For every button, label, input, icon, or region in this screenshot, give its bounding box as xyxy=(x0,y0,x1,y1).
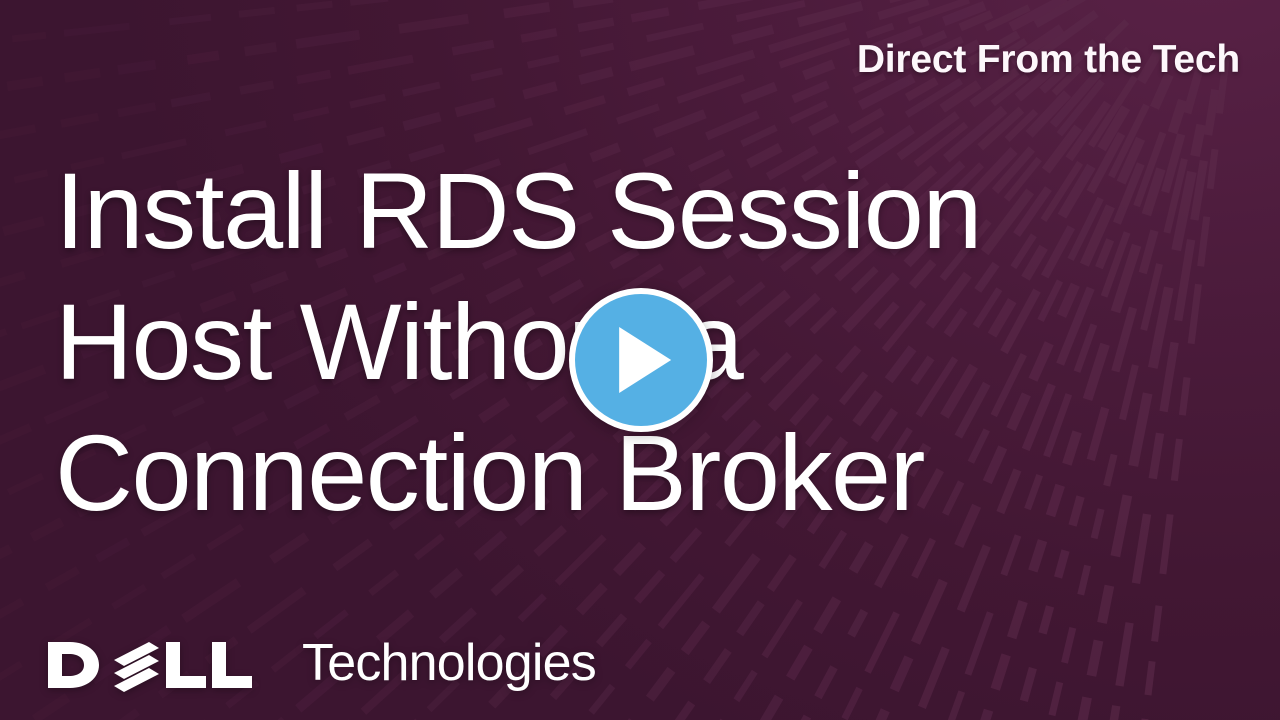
series-eyebrow: Direct From the Tech xyxy=(857,38,1240,82)
play-button[interactable] xyxy=(569,288,713,432)
play-icon xyxy=(619,327,671,393)
dell-logotype-icon xyxy=(48,636,300,694)
dell-technologies-logo: Technologies xyxy=(48,636,596,694)
title-line-1: Install RDS Session xyxy=(55,145,1215,276)
dell-technologies-wordmark: Technologies xyxy=(302,637,596,693)
video-thumbnail: Direct From the Tech Install RDS Session… xyxy=(0,0,1280,720)
